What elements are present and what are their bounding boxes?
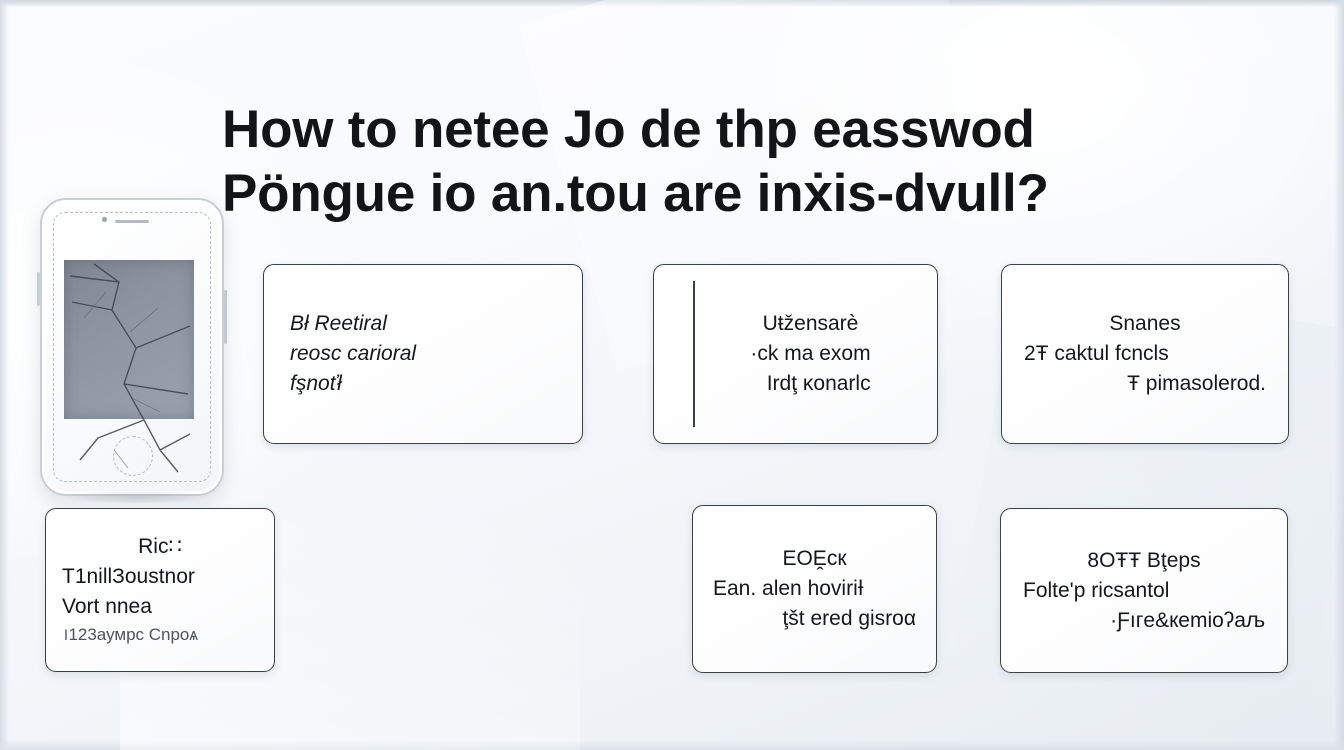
- card-4-line-3: Vort nnea: [62, 592, 152, 622]
- page-title-line-2: Pöngue io an.tou are inẋis-dvull?: [222, 162, 1242, 226]
- frame-edge-left: [0, 0, 9, 750]
- phone-power-button-icon: [224, 290, 227, 344]
- card-2-line-1: Uŧžensarè: [763, 309, 859, 339]
- card-4-line-4: ।123аумрс Сnpoѧ: [62, 622, 198, 648]
- cracked-phone-illustration: [40, 198, 224, 496]
- card-6-line-2: Folte'р ricsantol: [1023, 576, 1169, 606]
- card-2-line-3: Irdţ ĸonarlc: [767, 369, 871, 399]
- card-5-line-2: Ean. alen hoviriƗ: [713, 574, 864, 604]
- infographic-canvas: How to netee Jo de thp easswod Pöngue io…: [0, 0, 1344, 750]
- info-card-4[interactable]: Ric∷ T1nillЗoustnor Vort nnea ।123аумрс …: [45, 508, 275, 672]
- card-2-accent-rule: [693, 281, 695, 427]
- card-1-line-1: Bł Reetiral: [290, 309, 387, 339]
- card-5-line-1: EOḘcк: [782, 544, 846, 574]
- card-3-line-2: 2Ŧ caktul fcncls: [1024, 339, 1169, 369]
- card-5-line-3: ţšt ered ɡisroα: [782, 604, 916, 634]
- info-card-3[interactable]: Snanes 2Ŧ caktul fcncls Ŧ pimasolerod.: [1001, 264, 1289, 444]
- frame-edge-right: [1334, 0, 1344, 750]
- card-3-line-3: Ŧ pimasolerod.: [1127, 369, 1266, 399]
- card-4-line-2: T1nillЗoustnor: [62, 562, 195, 592]
- card-6-line-3: ·Ƒıгe&кemioʔaљ: [1110, 606, 1265, 636]
- card-6-line-1: 8OŦŦ Βţeps: [1087, 546, 1200, 576]
- card-1-line-2: reosc carioral: [290, 339, 416, 369]
- card-3-line-1: Snanes: [1109, 309, 1180, 339]
- page-title: How to netee Jo de thp easswod Pöngue io…: [222, 98, 1242, 226]
- card-4-line-1: Ric∷: [138, 532, 182, 562]
- info-card-2[interactable]: Uŧžensarè ·ck ma exom Irdţ ĸonarlc: [653, 264, 938, 444]
- screen-crack-lines: [40, 198, 224, 496]
- card-1-line-3: fşnoťł: [290, 369, 342, 399]
- info-card-1[interactable]: Bł Reetiral reosc carioral fşnoťł: [263, 264, 583, 444]
- card-2-line-2: ·ck ma exom: [750, 339, 870, 369]
- page-title-line-1: How to netee Jo de thp easswod: [222, 100, 1035, 159]
- info-card-6[interactable]: 8OŦŦ Βţeps Folte'р ricsantol ·Ƒıгe&кemio…: [1000, 508, 1288, 673]
- frame-edge-bottom: [0, 740, 1344, 750]
- info-card-5[interactable]: EOḘcк Ean. alen hoviriƗ ţšt ered ɡisroα: [692, 505, 937, 673]
- card-2-body: Uŧžensarè ·ck ma exom Irdţ ĸonarlc: [720, 309, 870, 399]
- frame-edge-top: [0, 0, 1344, 7]
- phone-drop-shadow: [62, 490, 212, 504]
